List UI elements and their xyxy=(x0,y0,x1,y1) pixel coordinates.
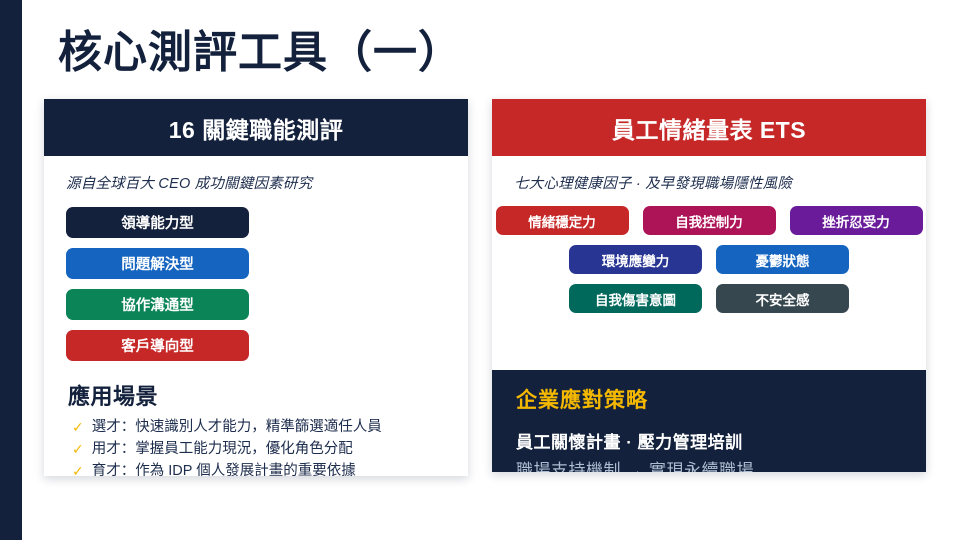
pill-self-harm-intent-label: 自我傷害意圖 xyxy=(595,289,676,309)
corporate-strategy-line-1: 員工關懷計畫 · 壓力管理培訓 xyxy=(492,414,926,453)
pill-problem-solving[interactable]: 問題解決型 xyxy=(66,248,249,279)
pill-insecurity[interactable]: 不安全感 xyxy=(716,284,849,313)
pill-customer-oriented[interactable]: 客戶導向型 xyxy=(66,330,249,361)
list-item: ✓ 用才：掌握員工能力現況，優化角色分配 xyxy=(72,439,468,460)
pill-leadership-label: 領導能力型 xyxy=(121,212,194,233)
pill-self-control-label: 自我控制力 xyxy=(675,211,743,231)
list-item-label: 用才：掌握員工能力現況，優化角色分配 xyxy=(92,439,353,460)
competency-pill-grid: 領導能力型 問題解決型 協作溝通型 客戶導向型 xyxy=(44,193,468,361)
page-title: 核心測評工具（一） xyxy=(58,22,463,84)
card-competency-assessment: 16 關鍵職能測評 源自全球百大 CEO 成功關鍵因素研究 領導能力型 問題解決… xyxy=(44,99,468,476)
pill-self-control[interactable]: 自我控制力 xyxy=(643,206,776,235)
card-left-header-label: 16 關鍵職能測評 xyxy=(169,111,343,145)
pill-frustration-tolerance-label: 挫折忍受力 xyxy=(822,211,890,231)
card-left-subtitle: 源自全球百大 CEO 成功關鍵因素研究 xyxy=(44,156,468,193)
pill-depression-state[interactable]: 憂鬱狀態 xyxy=(716,245,849,274)
application-scenarios-title: 應用場景 xyxy=(44,361,468,417)
pill-collaboration[interactable]: 協作溝通型 xyxy=(66,289,249,320)
check-icon: ✓ xyxy=(72,439,84,460)
pill-leadership[interactable]: 領導能力型 xyxy=(66,207,249,238)
card-left-header: 16 關鍵職能測評 xyxy=(44,99,468,156)
corporate-strategy-box: 企業應對策略 員工關懷計畫 · 壓力管理培訓 職場支持機制 → 實現永續職場 xyxy=(492,370,926,472)
corporate-strategy-title: 企業應對策略 xyxy=(492,370,926,414)
list-item-label: 育才：作為 IDP 個人發展計畫的重要依據 xyxy=(92,461,356,476)
slide-canvas: 核心測評工具（一） 16 關鍵職能測評 源自全球百大 CEO 成功關鍵因素研究 … xyxy=(0,0,960,540)
pill-emotional-stability-label: 情緒穩定力 xyxy=(528,211,596,231)
list-item: ✓ 選才：快速識別人才能力，精準篩選適任人員 xyxy=(72,417,468,438)
check-icon: ✓ xyxy=(72,417,84,438)
pill-adaptability-label: 環境應變力 xyxy=(602,250,670,270)
list-item-label: 選才：快速識別人才能力，精準篩選適任人員 xyxy=(92,417,382,438)
pill-problem-solving-label: 問題解決型 xyxy=(121,253,194,274)
left-accent-bar xyxy=(0,0,22,540)
card-left-body: 源自全球百大 CEO 成功關鍵因素研究 領導能力型 問題解決型 協作溝通型 客戶… xyxy=(44,156,468,476)
card-right-header: 員工情緒量表 ETS xyxy=(492,99,926,156)
pill-frustration-tolerance[interactable]: 挫折忍受力 xyxy=(790,206,923,235)
pill-self-harm-intent[interactable]: 自我傷害意圖 xyxy=(569,284,702,313)
pill-emotional-stability[interactable]: 情緒穩定力 xyxy=(496,206,629,235)
ets-pill-row-1: 情緒穩定力 自我控制力 挫折忍受力 xyxy=(492,193,926,235)
pill-customer-oriented-label: 客戶導向型 xyxy=(121,335,194,356)
ets-pill-row-2: 環境應變力 憂鬱狀態 xyxy=(492,235,926,274)
pill-adaptability[interactable]: 環境應變力 xyxy=(569,245,702,274)
corporate-strategy-line-2: 職場支持機制 → 實現永續職場 xyxy=(492,453,926,472)
check-icon: ✓ xyxy=(72,461,84,476)
pill-depression-state-label: 憂鬱狀態 xyxy=(756,250,810,270)
card-right-subtitle: 七大心理健康因子 · 及早發現職場隱性風險 xyxy=(492,156,926,193)
card-right-header-label: 員工情緒量表 ETS xyxy=(612,111,806,145)
card-right-body: 七大心理健康因子 · 及早發現職場隱性風險 情緒穩定力 自我控制力 挫折忍受力 … xyxy=(492,156,926,313)
ets-pill-row-3: 自我傷害意圖 不安全感 xyxy=(492,274,926,313)
pill-collaboration-label: 協作溝通型 xyxy=(121,294,194,315)
list-item: ✓ 育才：作為 IDP 個人發展計畫的重要依據 xyxy=(72,461,468,476)
pill-insecurity-label: 不安全感 xyxy=(756,289,810,309)
card-employee-emotion-scale: 員工情緒量表 ETS 七大心理健康因子 · 及早發現職場隱性風險 情緒穩定力 自… xyxy=(492,99,926,472)
application-scenarios-list: ✓ 選才：快速識別人才能力，精準篩選適任人員 ✓ 用才：掌握員工能力現況，優化角… xyxy=(44,417,468,476)
